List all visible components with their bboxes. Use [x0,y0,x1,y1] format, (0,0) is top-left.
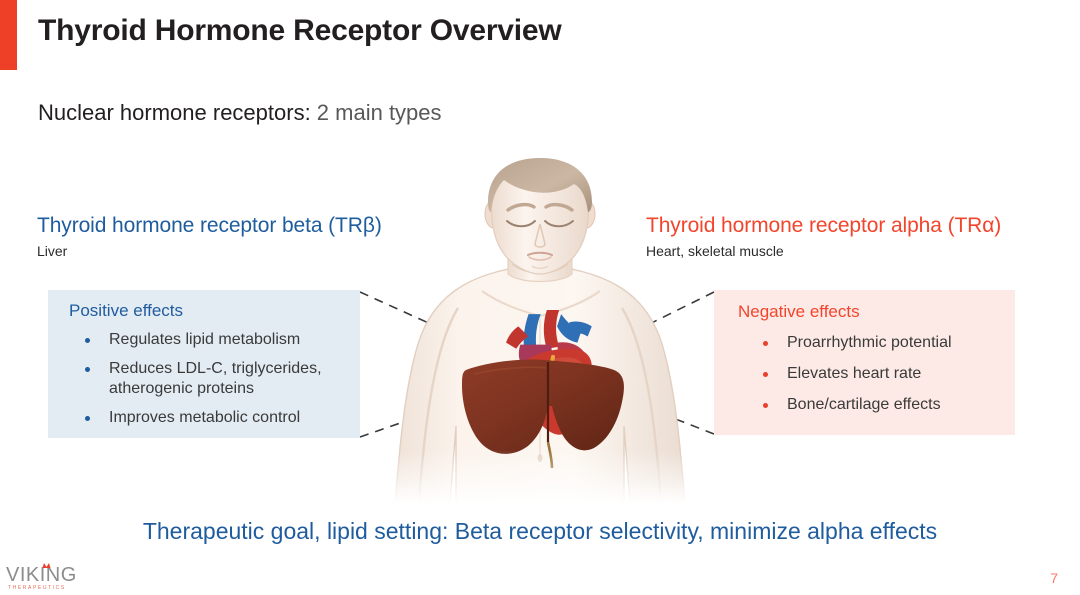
page-title: Thyroid Hormone Receptor Overview [38,14,562,48]
list-item: Reduces LDL-C, triglycerides, atherogeni… [78,359,353,399]
viking-therapeutics-logo: VIKING THERAPEUTICS [6,562,114,592]
beta-effects-title: Positive effects [69,301,183,321]
head-shape [485,158,595,274]
bullet-icon [763,341,768,346]
subtitle-tail: 2 main types [311,100,442,125]
beta-receptor-tissue: Liver [37,243,67,259]
list-item: Elevates heart rate [756,364,1011,384]
bullet-icon [763,372,768,377]
list-item: Improves metabolic control [78,408,353,428]
figure-fade [362,450,718,503]
list-item-label: Proarrhythmic potential [787,334,952,351]
list-item-label: Bone/cartilage effects [787,396,941,413]
alpha-effects-list: Proarrhythmic potential Elevates heart r… [756,333,1011,426]
list-item: Proarrhythmic potential [756,333,1011,353]
page-number: 7 [1050,570,1058,586]
list-item-label: Regulates lipid metabolism [109,331,300,348]
list-item-label: Improves metabolic control [109,409,300,426]
beta-effects-list: Regulates lipid metabolism Reduces LDL-C… [78,330,353,437]
list-item: Regulates lipid metabolism [78,330,353,350]
list-item-label: Reduces LDL-C, triglycerides, atherogeni… [109,360,322,397]
bullet-icon [85,367,90,372]
beta-receptor-heading: Thyroid hormone receptor beta (TRβ) [37,214,382,238]
list-item: Bone/cartilage effects [756,395,1011,415]
bullet-icon [763,403,768,408]
alpha-effects-box: Negative effects Proarrhythmic potential… [714,290,1015,435]
bullet-icon [85,338,90,343]
list-item-label: Elevates heart rate [787,365,921,382]
slide-subtitle: Nuclear hormone receptors: 2 main types [38,100,442,126]
human-torso-illustration [362,158,718,503]
logo-wordmark: VIKING [6,564,77,586]
beta-effects-box: Positive effects Regulates lipid metabol… [48,290,360,438]
subtitle-lead: Nuclear hormone receptors: [38,100,311,125]
alpha-effects-title: Negative effects [738,302,860,322]
title-accent-bar [0,0,17,70]
logo-subtext: THERAPEUTICS [8,585,66,591]
bullet-icon [85,416,90,421]
therapeutic-goal-tagline: Therapeutic goal, lipid setting: Beta re… [0,518,1080,545]
